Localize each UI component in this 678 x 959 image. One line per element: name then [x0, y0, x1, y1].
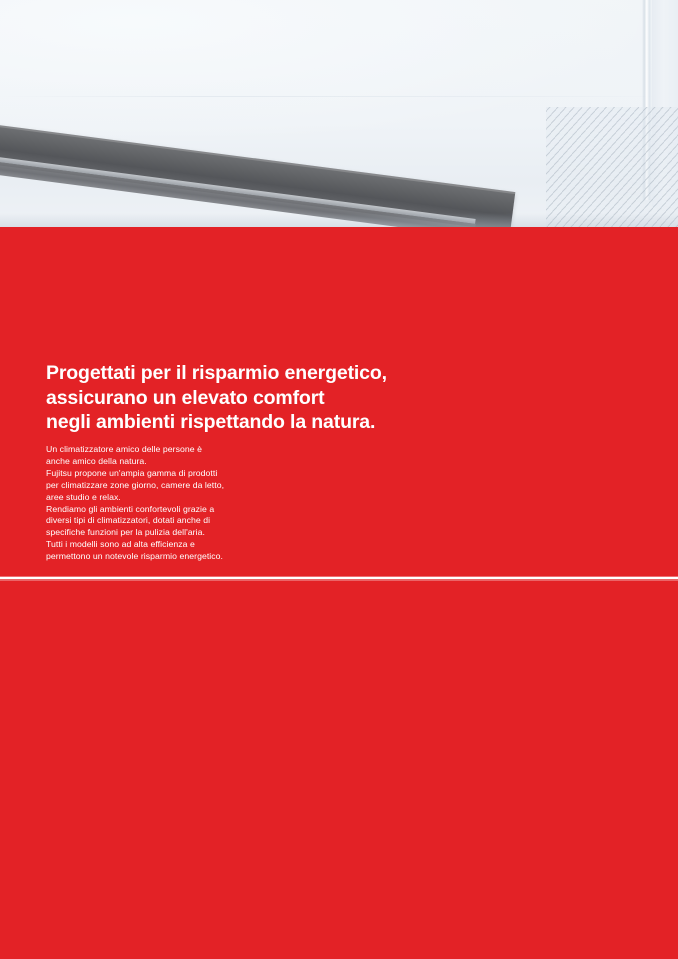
- body-line-5: aree studio e relax.: [46, 492, 346, 504]
- curved-vent-fins: [546, 107, 678, 227]
- horizontal-seam: [0, 96, 678, 97]
- photo-bottom-shadow: [0, 213, 678, 227]
- body-line-1: Un climatizzatore amico delle persone è: [46, 444, 346, 456]
- body-line-9: Tutti i modelli sono ad alta efficienza …: [46, 539, 346, 551]
- headline-line-1: Progettati per il risparmio energetico,: [46, 361, 606, 386]
- body-line-7: diversi tipi di climatizzatori, dotati a…: [46, 515, 346, 527]
- body-line-8: specifiche funzioni per la pulizia dell'…: [46, 527, 346, 539]
- white-rule: [0, 577, 678, 579]
- headline: Progettati per il risparmio energetico, …: [46, 361, 606, 435]
- body-line-2: anche amico della natura.: [46, 456, 346, 468]
- body-copy: Un climatizzatore amico delle persone è …: [46, 444, 346, 563]
- brochure-page: Progettati per il risparmio energetico, …: [0, 0, 678, 959]
- red-panel: [0, 227, 678, 959]
- body-line-10: permettono un notevole risparmio energet…: [46, 551, 346, 563]
- headline-line-3: negli ambienti rispettando la natura.: [46, 410, 606, 435]
- body-line-4: per climatizzare zone giorno, camere da …: [46, 480, 346, 492]
- vent-arc-edge: [546, 107, 678, 227]
- body-line-3: Fujitsu propone un'ampia gamma di prodot…: [46, 468, 346, 480]
- headline-line-2: assicurano un elevato comfort: [46, 386, 606, 411]
- body-line-6: Rendiamo gli ambienti confortevoli grazi…: [46, 504, 346, 516]
- product-photo: [0, 0, 678, 227]
